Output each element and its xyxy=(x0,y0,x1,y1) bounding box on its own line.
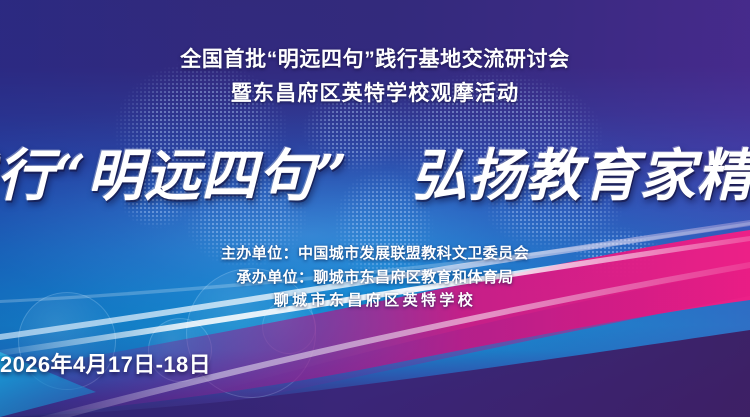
banner-headline: 践行“明远四句” 弘扬教育家精神 xyxy=(0,131,750,212)
organizer-line-coorganizer: 承办单位：聊城市东昌府区教育和体育局 xyxy=(221,266,529,290)
headline-part-2: 弘扬教育家精神 xyxy=(411,143,750,209)
event-date: 2026年4月17日-18日 xyxy=(0,347,750,379)
organizer-line-host: 主办单位：中国城市发展联盟教科文卫委员会 xyxy=(221,242,529,266)
organizer-line-venue: 聊城市东昌府区英特学校 xyxy=(221,289,529,313)
banner-subtitle: 全国首批“明远四句”践行基地交流研讨会 暨东昌府区英特学校观摩活动 xyxy=(180,43,569,111)
headline-part-1: 践行“明远四句” xyxy=(0,143,348,209)
conference-banner: 全国首批“明远四句”践行基地交流研讨会 暨东昌府区英特学校观摩活动 践行“明远四… xyxy=(0,0,750,417)
subtitle-line-1: 全国首批“明远四句”践行基地交流研讨会 xyxy=(180,43,569,77)
organizer-block: 主办单位：中国城市发展联盟教科文卫委员会 承办单位：聊城市东昌府区教育和体育局 … xyxy=(221,242,529,313)
subtitle-line-2: 暨东昌府区英特学校观摩活动 xyxy=(180,77,569,111)
